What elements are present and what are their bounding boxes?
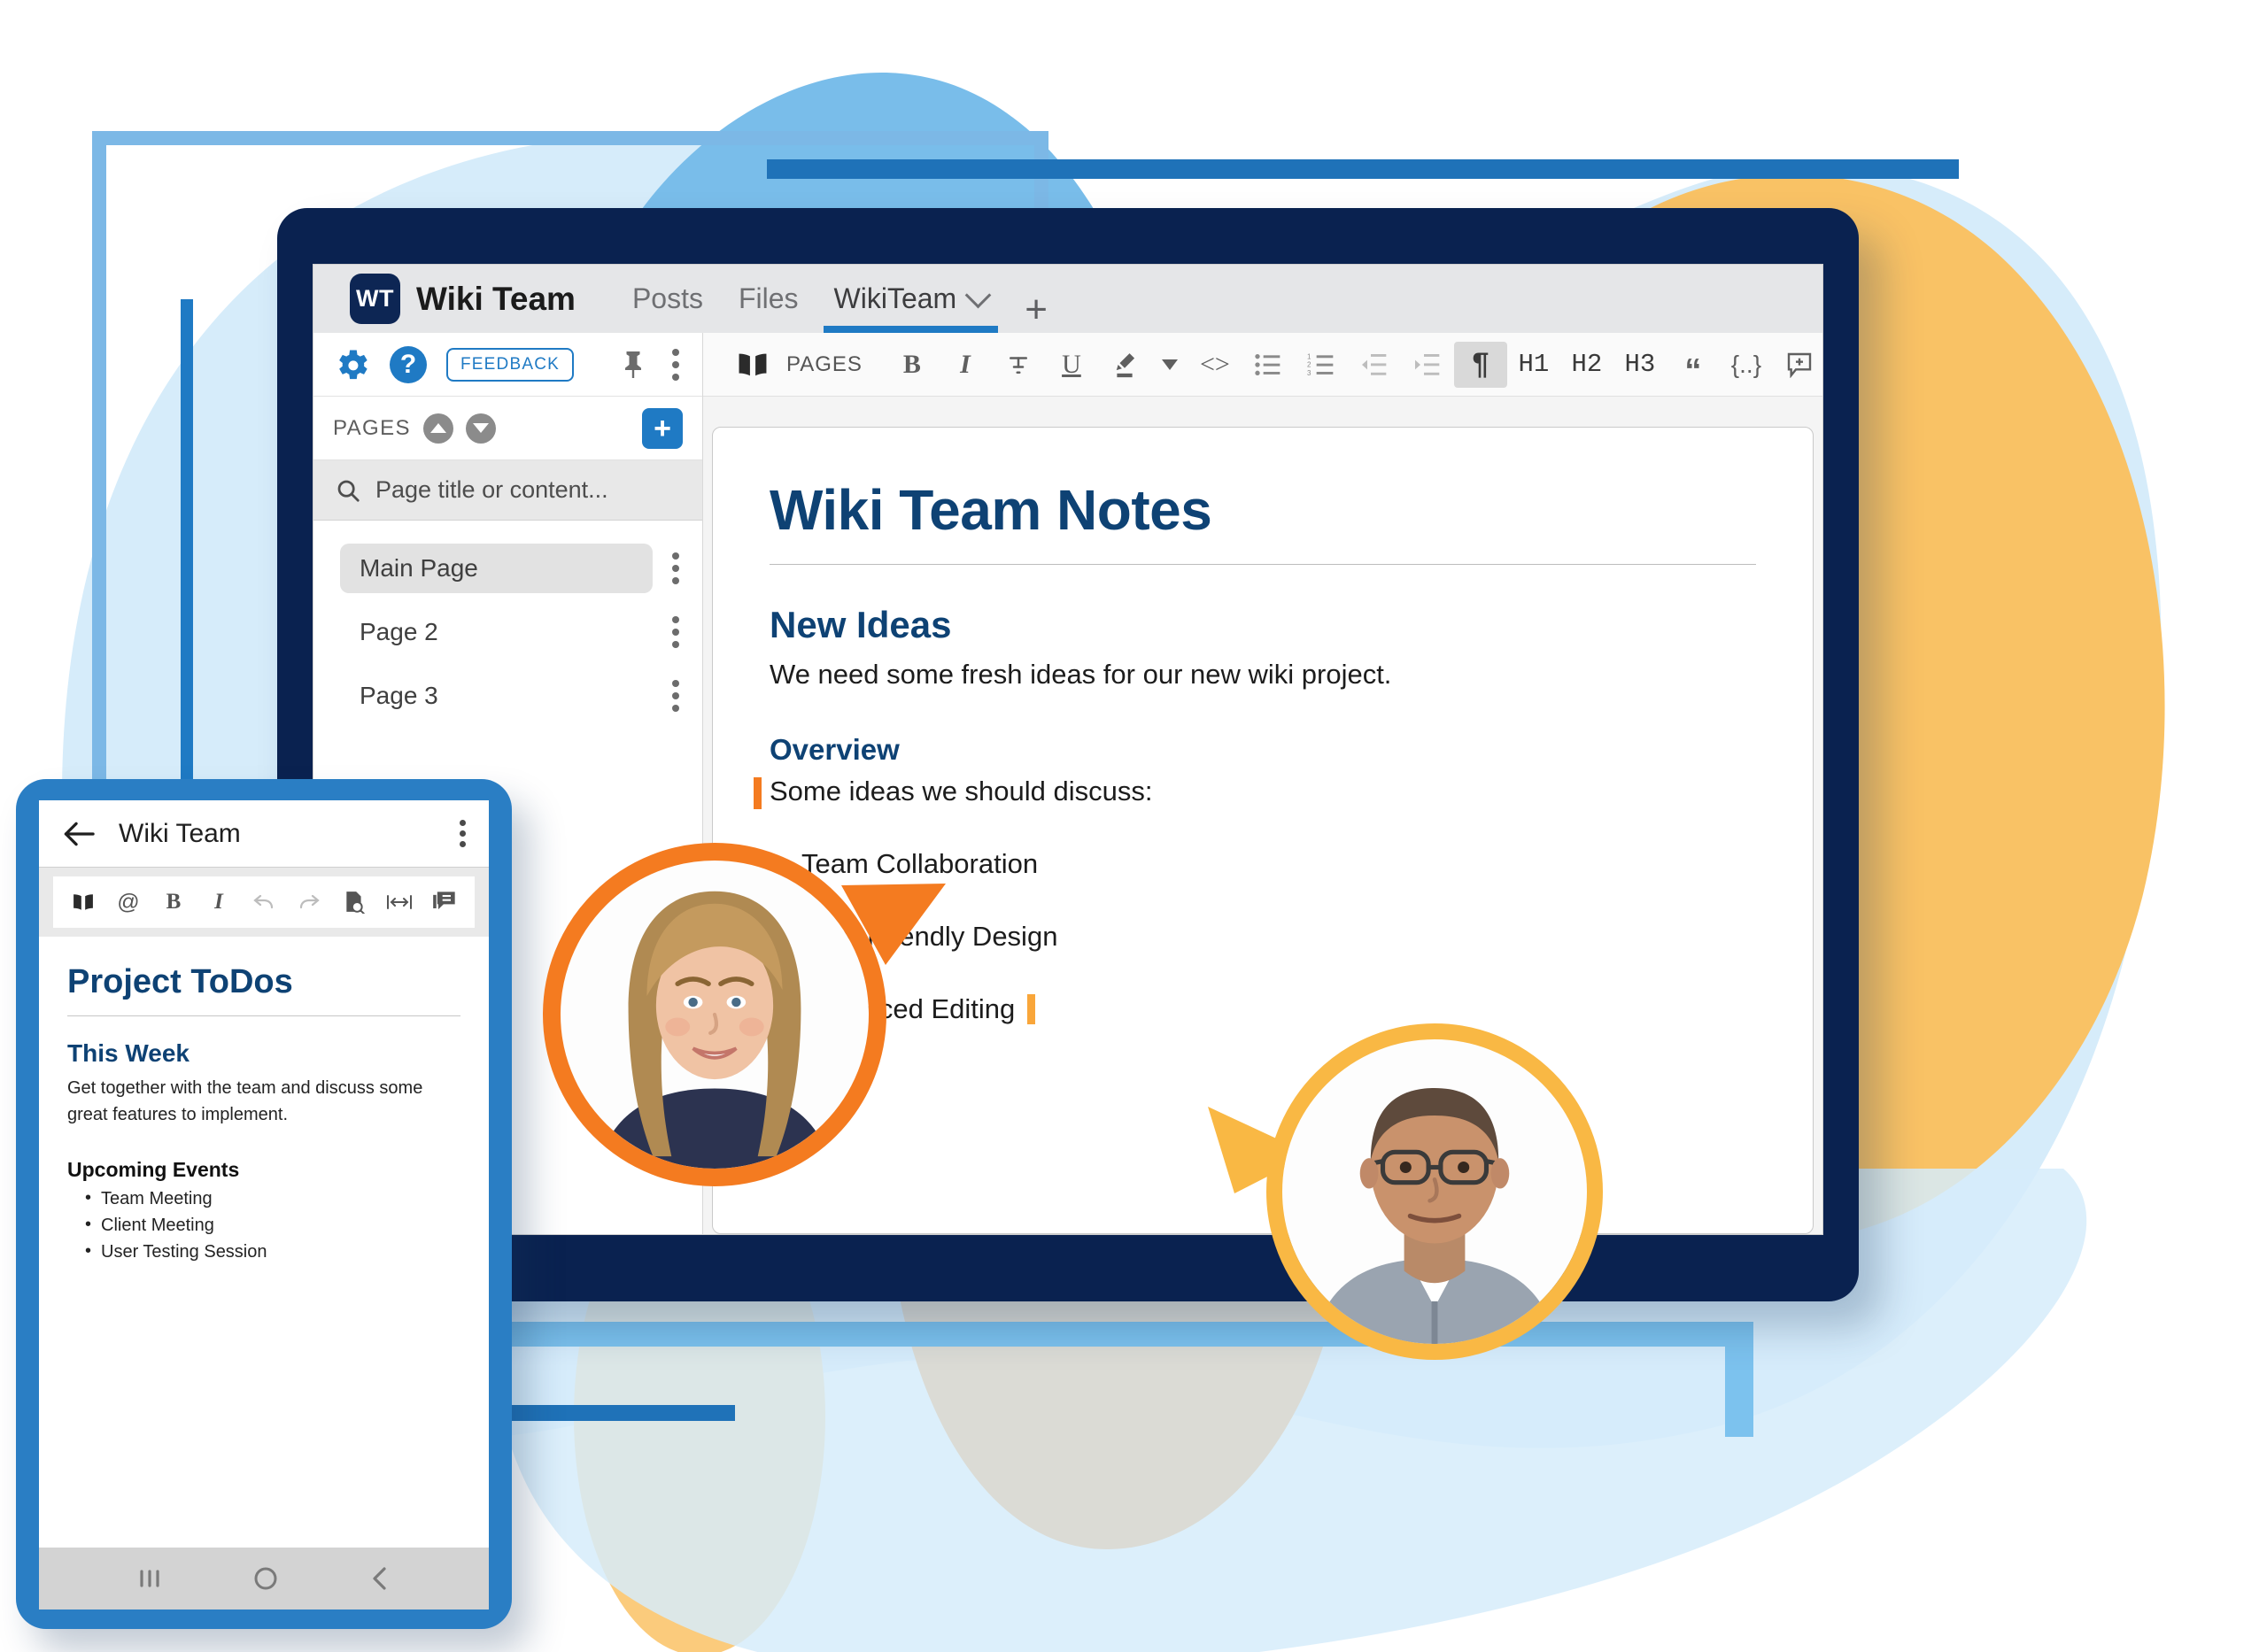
code-icon: <> (1200, 350, 1230, 380)
svg-text:1: 1 (1307, 352, 1311, 360)
outdent-icon (1360, 352, 1389, 377)
nav-tabs: Posts Files WikiTeam + (615, 265, 1048, 333)
macro-icon: {..} (1731, 351, 1761, 379)
phone-screen: Wiki Team @ B (39, 800, 489, 1610)
italic-button[interactable]: I (939, 342, 992, 388)
help-button[interactable]: ? (390, 346, 427, 383)
bold-icon: B (903, 350, 921, 380)
recents-icon (135, 1565, 165, 1592)
outdent-button[interactable] (1348, 342, 1401, 388)
phone-redo-button[interactable] (291, 884, 327, 920)
page-item-label: Page 3 (360, 682, 438, 710)
kebab-menu-icon (672, 616, 679, 623)
sort-pages-down-button[interactable] (466, 413, 496, 444)
workspace-logo-initials: WT (356, 285, 394, 313)
strikethrough-icon (1005, 351, 1032, 378)
search-input[interactable]: Page title or content... (375, 476, 608, 504)
mention-icon: @ (117, 890, 139, 915)
kebab-menu-icon (672, 349, 679, 356)
search-icon (335, 477, 361, 504)
mobile-phone: Wiki Team @ B (16, 779, 512, 1629)
page-search-row[interactable]: Page title or content... (313, 460, 702, 521)
app-title: Wiki Team (416, 281, 576, 318)
app-body: ? FEEDBACK (313, 333, 1822, 1234)
pages-list: Main Page Page 2 (313, 521, 702, 728)
highlight-icon (1111, 351, 1138, 379)
decor-line-short (496, 1405, 735, 1421)
workspace-logo[interactable]: WT (350, 274, 400, 324)
phone-full-width-button[interactable] (382, 884, 417, 920)
heading-3-button[interactable]: H3 (1613, 342, 1667, 388)
indent-button[interactable] (1401, 342, 1454, 388)
page-item-more-button[interactable] (669, 676, 683, 715)
bold-icon: B (166, 890, 182, 915)
event-label: User Testing Session (101, 1242, 267, 1262)
phone-home-button[interactable] (251, 1563, 281, 1594)
scene: WT Wiki Team Posts Files WikiTeam + (0, 0, 2267, 1652)
editor-toolbar: PAGES B I U (703, 333, 1822, 397)
event-label: Team Meeting (101, 1189, 213, 1208)
avatar-ring-yellow (1266, 1023, 1603, 1360)
highlight-color-button[interactable] (1098, 342, 1151, 388)
paragraph-icon: ¶ (1472, 347, 1489, 382)
lead-text: Some ideas we should discuss: (770, 776, 1756, 807)
code-button[interactable]: <> (1188, 342, 1242, 388)
sidebar-toolbar-right (617, 345, 683, 384)
phone-mention-button[interactable]: @ (111, 884, 146, 920)
phone-recents-button[interactable] (135, 1565, 165, 1592)
phone-editor-toolbar: @ B I (53, 876, 475, 928)
tab-files[interactable]: Files (721, 265, 816, 333)
heading-3-icon: H3 (1625, 350, 1656, 379)
list-item: Team Collaboration (770, 848, 1756, 880)
kebab-menu-icon (672, 552, 679, 560)
phone-document[interactable]: Project ToDos This Week Get together wit… (39, 937, 489, 1548)
highlight-dropdown-button[interactable] (1151, 342, 1188, 388)
comment-icon (432, 891, 457, 914)
redo-icon (298, 893, 321, 911)
numbered-list-button[interactable]: 1 2 3 (1295, 342, 1348, 388)
pages-header: PAGES + (313, 397, 702, 460)
page-item-more-button[interactable] (669, 613, 683, 652)
phone-find-button[interactable] (337, 884, 372, 920)
macro-button[interactable]: {..} (1720, 342, 1773, 388)
monitor-screen: WT Wiki Team Posts Files WikiTeam + (313, 264, 1823, 1235)
back-chevron-icon (367, 1564, 393, 1593)
decor-line-top (767, 159, 1959, 179)
heading-1-icon: H1 (1519, 350, 1550, 379)
heading-2-button[interactable]: H2 (1560, 342, 1613, 388)
phone-title: Wiki Team (119, 819, 241, 849)
pin-sidebar-button[interactable] (617, 347, 649, 382)
sub-heading: Overview (770, 733, 1756, 767)
page-item-label: Main Page (360, 554, 478, 583)
pages-header-label: PAGES (333, 416, 411, 441)
add-comment-icon (1785, 351, 1814, 378)
list-item: User Testing Session (85, 1242, 460, 1262)
plus-icon: + (1025, 288, 1048, 331)
list-item[interactable]: Page 2 (313, 600, 702, 664)
list-item: Team Meeting (85, 1189, 460, 1209)
list-item[interactable]: Page 3 (313, 664, 702, 728)
full-width-icon (386, 894, 413, 910)
tab-files-label: Files (739, 282, 799, 315)
page-item-more-button[interactable] (669, 549, 683, 588)
pages-panel-label: PAGES (786, 352, 863, 377)
app-topbar: WT Wiki Team Posts Files WikiTeam + (313, 265, 1822, 333)
event-label: Client Meeting (101, 1216, 214, 1235)
yellow-text-cursor (1027, 994, 1035, 1024)
question-circle-icon: ? (390, 346, 427, 383)
heading-2-icon: H2 (1572, 350, 1603, 379)
lead-text-label: Some ideas we should discuss: (770, 776, 1153, 807)
book-pages-icon (71, 892, 96, 913)
page-item-page-2[interactable]: Page 2 (340, 607, 653, 657)
tab-wikiteam[interactable]: WikiTeam (816, 265, 1006, 333)
feedback-label: FEEDBACK (460, 355, 560, 374)
underline-button[interactable]: U (1045, 342, 1098, 388)
decor-line-middle-corner (1725, 1322, 1753, 1437)
tab-posts[interactable]: Posts (615, 265, 721, 333)
gear-icon (333, 345, 372, 384)
underline-icon: U (1062, 350, 1081, 380)
page-title: Wiki Team Notes (770, 477, 1756, 543)
sidebar-more-button[interactable] (669, 345, 683, 384)
section-intro-text: We need some fresh ideas for our new wik… (770, 659, 1756, 691)
kebab-menu-icon (672, 680, 679, 687)
feedback-button[interactable]: FEEDBACK (446, 348, 574, 382)
chevron-down-icon (1162, 359, 1178, 370)
phone-back-button[interactable] (367, 1564, 393, 1593)
caret-up-circle-icon (430, 423, 446, 433)
caret-down-circle-icon (473, 423, 489, 433)
orange-text-cursor (754, 777, 762, 809)
add-tab-button[interactable]: + (1025, 290, 1048, 333)
svg-text:2: 2 (1307, 360, 1311, 368)
avatar-bubble-left[interactable] (543, 843, 886, 1186)
tab-wikiteam-label: WikiTeam (834, 282, 957, 315)
page-item-main-page[interactable]: Main Page (340, 544, 653, 593)
phone-bold-button[interactable]: B (156, 884, 191, 920)
phone-header: Wiki Team (39, 800, 489, 868)
title-divider (770, 564, 1756, 565)
bulleted-list-button[interactable] (1242, 342, 1295, 388)
phone-title-divider (67, 1015, 460, 1016)
undo-icon (252, 893, 275, 911)
pin-icon (617, 347, 649, 382)
bold-button[interactable]: B (886, 342, 939, 388)
list-item[interactable]: Main Page (313, 537, 702, 600)
indent-icon (1413, 352, 1442, 377)
bulleted-list-icon (1254, 352, 1282, 377)
italic-icon: I (214, 890, 223, 915)
svg-text:3: 3 (1307, 369, 1311, 377)
find-in-document-icon (344, 891, 365, 914)
home-circle-icon (251, 1563, 281, 1594)
section-heading: New Ideas (770, 604, 1756, 646)
bullet-label: Team Collaboration (801, 848, 1038, 879)
blockquote-button[interactable]: “ (1667, 335, 1720, 395)
decor-line-middle (496, 1322, 1753, 1347)
add-comment-button[interactable] (1773, 342, 1823, 388)
sidebar-toolbar: ? FEEDBACK (313, 333, 702, 397)
avatar-bubble-right[interactable] (1266, 1023, 1603, 1360)
phone-italic-button[interactable]: I (201, 884, 236, 920)
kebab-menu-icon (460, 820, 466, 826)
phone-body-text: Get together with the team and discuss s… (67, 1075, 460, 1128)
phone-pages-button[interactable] (66, 884, 101, 920)
numbered-list-icon: 1 2 3 (1307, 352, 1335, 377)
heading-1-button[interactable]: H1 (1507, 342, 1560, 388)
phone-event-list: Team Meeting Client Meeting User Testing… (67, 1189, 460, 1262)
page-item-page-3[interactable]: Page 3 (340, 671, 653, 721)
phone-list-heading: Upcoming Events (67, 1158, 460, 1182)
plus-square-icon: + (654, 413, 671, 444)
back-arrow-icon[interactable] (62, 821, 96, 847)
chevron-down-icon[interactable] (965, 282, 992, 309)
phone-comment-button[interactable] (427, 884, 462, 920)
sort-pages-up-button[interactable] (423, 413, 453, 444)
italic-icon: I (960, 350, 971, 380)
desktop-monitor: WT Wiki Team Posts Files WikiTeam + (277, 208, 1859, 1301)
tab-posts-label: Posts (632, 282, 703, 315)
page-item-label: Page 2 (360, 618, 438, 646)
paragraph-button[interactable]: ¶ (1454, 342, 1507, 388)
strikethrough-button[interactable] (992, 342, 1045, 388)
book-pages-icon (736, 350, 770, 380)
blockquote-icon: “ (1684, 365, 1701, 378)
phone-navigation-bar (39, 1548, 489, 1610)
phone-undo-button[interactable] (246, 884, 282, 920)
add-page-button[interactable]: + (642, 408, 683, 449)
list-item: Client Meeting (85, 1216, 460, 1236)
phone-toolbar-wrap: @ B I (39, 868, 489, 937)
phone-page-title: Project ToDos (67, 963, 460, 1001)
settings-button[interactable] (333, 345, 372, 384)
phone-more-button[interactable] (460, 820, 466, 847)
pages-panel-button[interactable] (726, 342, 779, 388)
list-item: Advanced Editing (770, 993, 1756, 1025)
phone-section-heading: This Week (67, 1039, 460, 1068)
avatar-ring-orange (543, 843, 886, 1186)
